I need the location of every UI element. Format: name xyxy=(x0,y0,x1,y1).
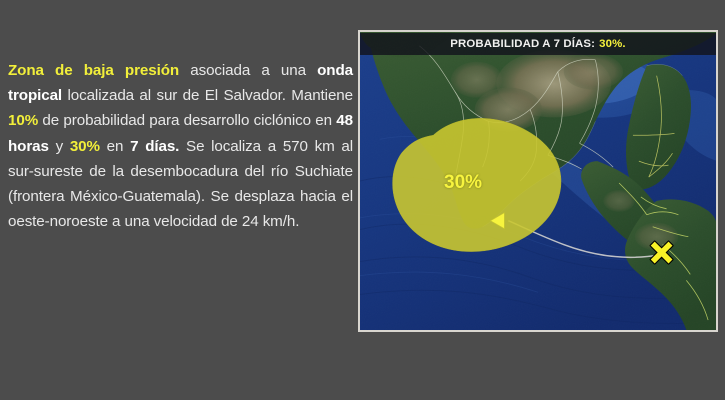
bulletin-segment-2: asociada a una xyxy=(179,62,317,79)
bulletin-segment-1: Zona de baja presión xyxy=(8,62,179,79)
bulletin-segment-13: una velocidad de 24 km/h. xyxy=(125,213,300,230)
probability-header-bar: PROBABILIDAD A 7 DÍAS: 30%. xyxy=(360,33,716,55)
weather-bulletin-screen: Zona de baja presión asociada a una onda… xyxy=(0,0,725,400)
bulletin-text: Zona de baja presión asociada a una onda… xyxy=(8,58,353,234)
probability-header-label: PROBABILIDAD A 7 DÍAS: xyxy=(450,38,595,50)
cone-probability-label: 30% xyxy=(444,172,482,194)
bulletin-segment-4: localizada al sur de El Salvador. Mantie… xyxy=(62,87,353,104)
bulletin-segment-6: de probabilidad para desarrollo ciclónic… xyxy=(38,112,336,129)
forecast-map-card[interactable]: PROBABILIDAD A 7 DÍAS: 30%. 30% xyxy=(358,30,718,332)
probability-header-value: 30%. xyxy=(599,38,626,50)
bulletin-segment-8: y xyxy=(49,138,70,155)
satellite-map-image xyxy=(360,32,716,330)
bulletin-segment-9: 30% xyxy=(70,138,100,155)
bulletin-segment-10: en xyxy=(100,138,130,155)
bulletin-segment-11: 7 días. xyxy=(130,138,179,155)
bulletin-segment-5: 10% xyxy=(8,112,38,129)
